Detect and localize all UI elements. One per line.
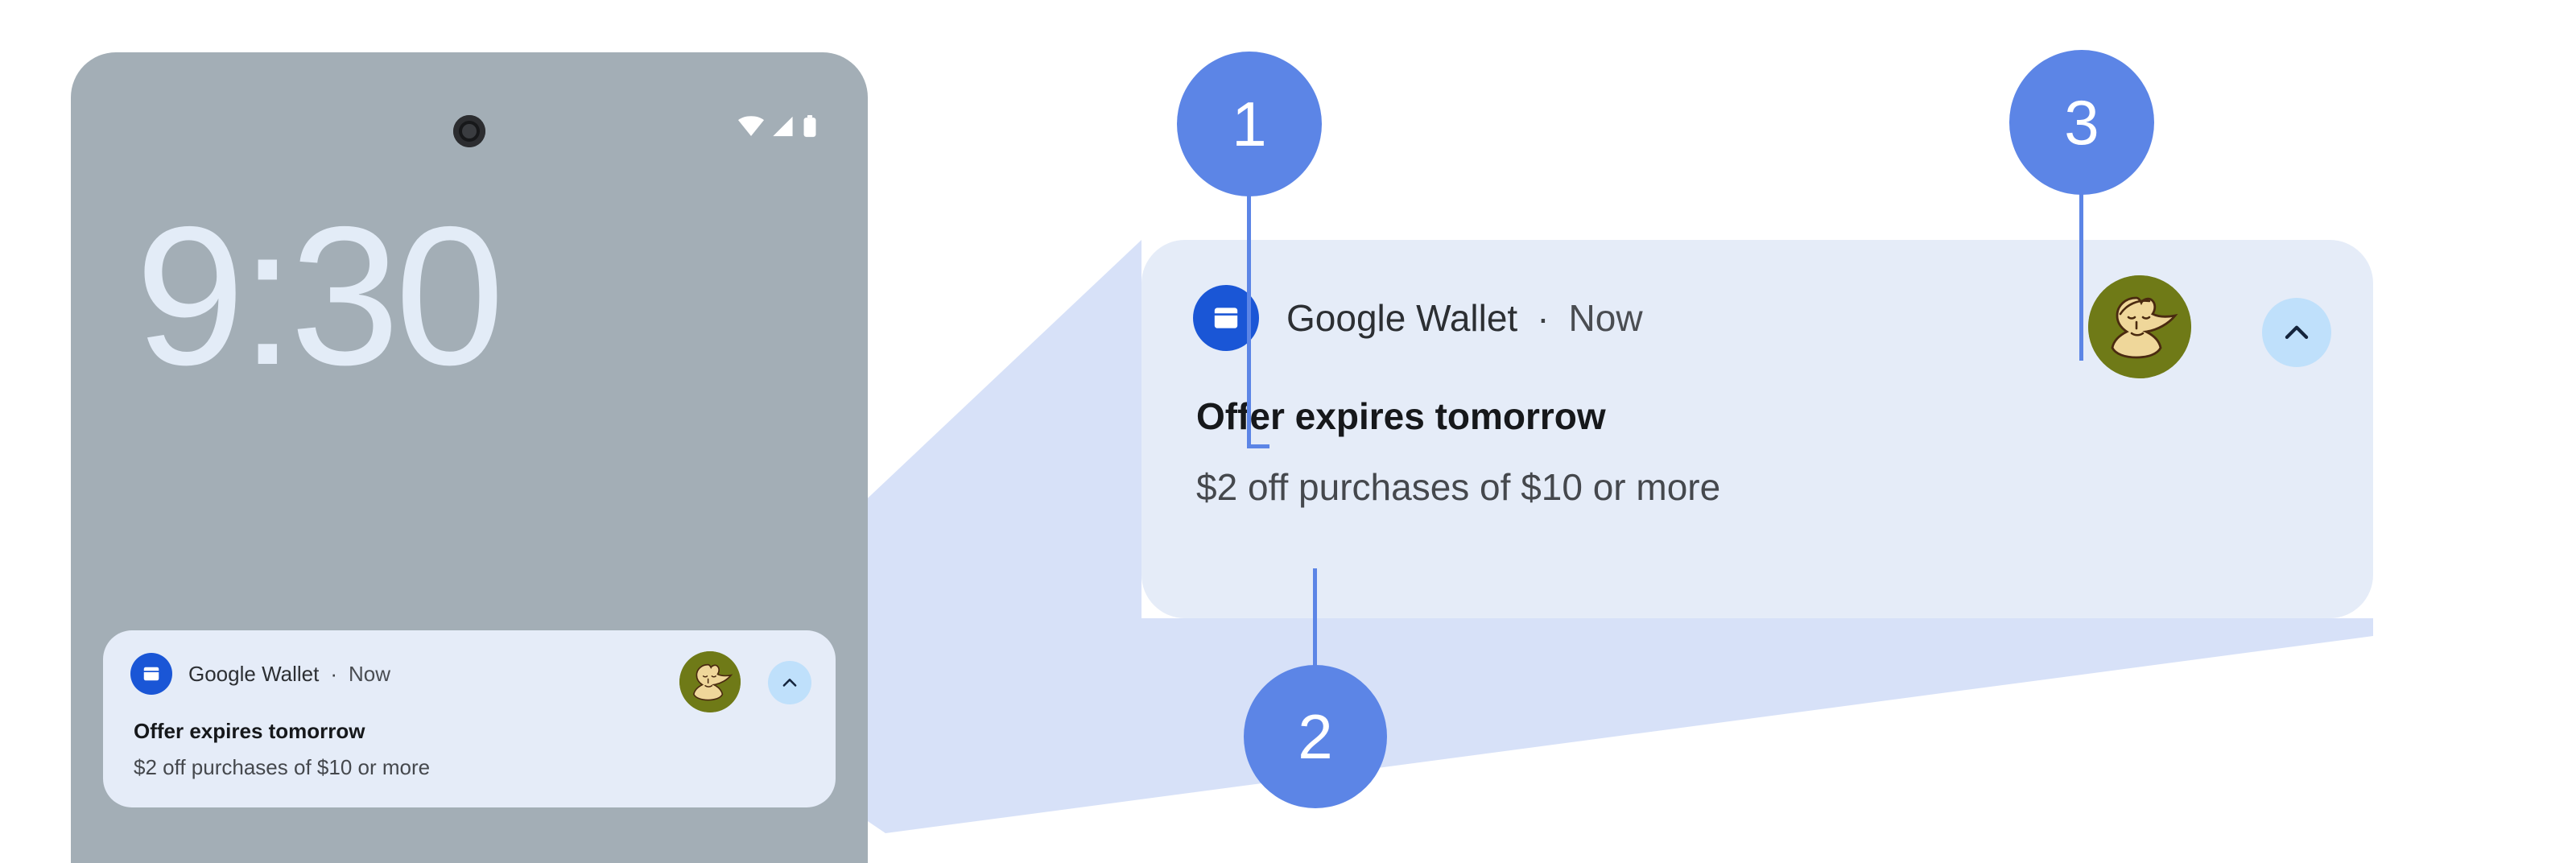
notification-body-zoomed: $2 off purchases of $10 or more bbox=[1196, 465, 2322, 509]
notification-title-zoomed: Offer expires tomorrow bbox=[1196, 394, 2322, 438]
phone-mockup: 9:30 Google Wallet · Now Offer expires t… bbox=[71, 52, 868, 863]
lock-screen-clock: 9:30 bbox=[135, 197, 500, 394]
notification-source-zoomed: Google Wallet · Now bbox=[1286, 296, 1643, 340]
notification-title-small: Offer expires tomorrow bbox=[134, 719, 808, 744]
battery-icon bbox=[802, 115, 818, 142]
notification-card-zoomed[interactable]: Google Wallet · Now Offer expires tomorr… bbox=[1141, 240, 2373, 618]
callout-badge-1: 1 bbox=[1177, 52, 1322, 196]
expand-notification-button-zoomed[interactable] bbox=[2262, 298, 2331, 367]
wallet-icon bbox=[130, 653, 172, 695]
chevron-up-icon bbox=[2279, 315, 2314, 350]
wifi-icon bbox=[737, 116, 765, 141]
app-name-label: Google Wallet bbox=[1286, 296, 1517, 340]
callout-leader-line-1 bbox=[1247, 193, 1251, 448]
status-bar bbox=[737, 115, 818, 142]
timestamp-label: Now bbox=[349, 662, 390, 687]
separator-dot: · bbox=[330, 662, 337, 687]
cell-signal-icon bbox=[771, 116, 795, 141]
callout-badge-2: 2 bbox=[1244, 665, 1387, 808]
merchant-logo-icon bbox=[679, 651, 741, 712]
timestamp-label: Now bbox=[1569, 296, 1643, 340]
app-name-label: Google Wallet bbox=[188, 662, 319, 687]
screenshot-root: 9:30 Google Wallet · Now Offer expires t… bbox=[0, 0, 2576, 863]
expand-notification-button-small[interactable] bbox=[768, 661, 811, 704]
chevron-up-icon bbox=[779, 672, 800, 693]
merchant-logo-icon bbox=[2088, 275, 2191, 378]
callout-leader-line-3 bbox=[2079, 192, 2083, 361]
notification-source-small: Google Wallet · Now bbox=[188, 662, 390, 687]
callout-badge-3: 3 bbox=[2009, 50, 2154, 195]
callout-leader-line-2 bbox=[1313, 568, 1317, 670]
separator-dot: · bbox=[1537, 296, 1549, 340]
notification-card-small[interactable]: Google Wallet · Now Offer expires tomorr… bbox=[103, 630, 836, 807]
callout-leader-elbow-1 bbox=[1247, 444, 1269, 448]
front-camera-punchhole-icon bbox=[453, 115, 485, 147]
notification-body-small: $2 off purchases of $10 or more bbox=[134, 755, 808, 780]
